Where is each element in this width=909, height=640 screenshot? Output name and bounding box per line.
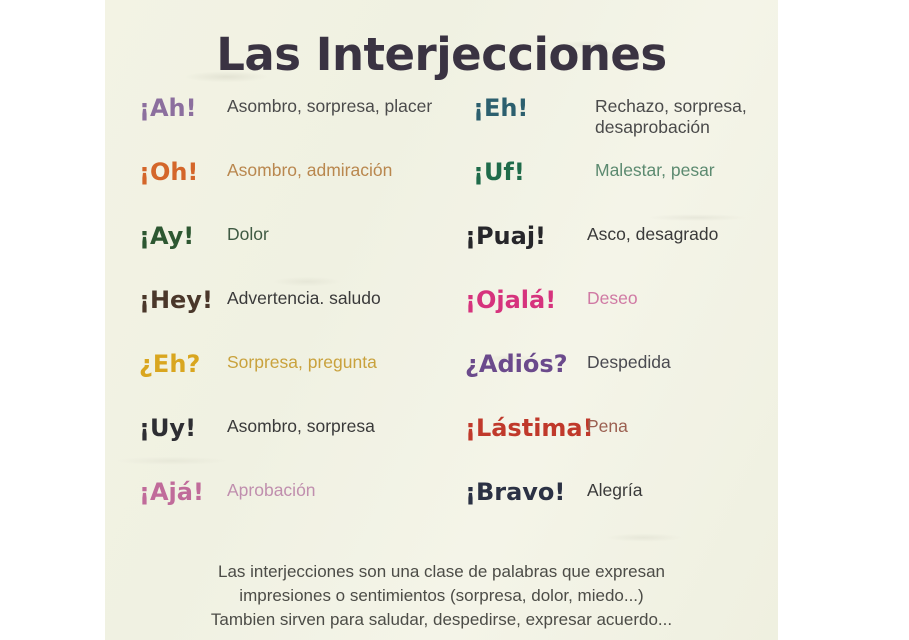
interjection-term: ¡Hey! (139, 288, 227, 314)
interjection-definition: Malestar, pesar (595, 160, 777, 181)
interjection-definition: Asombro, sorpresa (227, 416, 441, 437)
page-title: Las Interjecciones (105, 28, 778, 81)
list-item: ¡Ay! Dolor (139, 224, 441, 288)
interjection-term: ¡Ajá! (139, 480, 227, 506)
list-item: ¿Eh? Sorpresa, pregunta (139, 352, 441, 416)
interjection-definition: Dolor (227, 224, 441, 245)
footer-description: Las interjecciones son una clase de pala… (105, 560, 778, 632)
interjection-definition: Alegría (587, 480, 777, 501)
left-column: ¡Ah! Asombro, sorpresa, placer ¡Oh! Asom… (105, 96, 441, 544)
list-item: ¡Uf! Malestar, pesar (465, 160, 777, 224)
interjection-term: ¡Uf! (465, 160, 595, 186)
footer-line-2: impresiones o sentimientos (sorpresa, do… (105, 584, 778, 608)
interjection-definition: Deseo (587, 288, 777, 309)
interjection-term: ¡Ay! (139, 224, 227, 250)
right-column: ¡Eh! Rechazo, sorpresa, desaprobación ¡U… (441, 96, 777, 544)
interjection-term: ¡Oh! (139, 160, 227, 186)
list-item: ¡Ajá! Aprobación (139, 480, 441, 544)
list-item: ¡Ojalá! Deseo (465, 288, 777, 352)
interjection-term: ¡Ojalá! (465, 288, 587, 314)
poster-canvas: Las Interjecciones ¡Ah! Asombro, sorpres… (105, 0, 778, 640)
list-item: ¡Hey! Advertencia. saludo (139, 288, 441, 352)
interjection-definition: Despedida (587, 352, 777, 373)
interjection-definition: Asombro, admiración (227, 160, 441, 181)
list-item: ¡Puaj! Asco, desagrado (465, 224, 777, 288)
interjection-term: ¡Lástima! (465, 416, 587, 442)
footer-line-3: Tambien sirven para saludar, despedirse,… (105, 608, 778, 632)
interjection-term: ¡Puaj! (465, 224, 587, 250)
interjection-definition: Asombro, sorpresa, placer (227, 96, 441, 117)
interjection-definition: Pena (587, 416, 777, 437)
list-item: ¡Lástima! Pena (465, 416, 777, 480)
interjection-definition: Aprobación (227, 480, 441, 501)
interjection-term: ¿Eh? (139, 352, 227, 378)
interjection-term: ¡Ah! (139, 96, 227, 122)
footer-line-1: Las interjecciones son una clase de pala… (105, 560, 778, 584)
list-item: ¡Eh! Rechazo, sorpresa, desaprobación (465, 96, 777, 160)
list-item: ¡Oh! Asombro, admiración (139, 160, 441, 224)
list-item: ¡Bravo! Alegría (465, 480, 777, 544)
list-item: ¡Uy! Asombro, sorpresa (139, 416, 441, 480)
interjection-term: ¡Eh! (465, 96, 595, 122)
interjection-definition: Advertencia. saludo (227, 288, 441, 309)
interjection-definition: Sorpresa, pregunta (227, 352, 441, 373)
interjection-term: ¿Adiós? (465, 352, 587, 378)
interjection-term: ¡Bravo! (465, 480, 587, 506)
list-item: ¡Ah! Asombro, sorpresa, placer (139, 96, 441, 160)
interjection-definition: Asco, desagrado (587, 224, 777, 245)
list-item: ¿Adiós? Despedida (465, 352, 777, 416)
interjection-columns: ¡Ah! Asombro, sorpresa, placer ¡Oh! Asom… (105, 96, 778, 544)
interjection-term: ¡Uy! (139, 416, 227, 442)
interjection-definition: Rechazo, sorpresa, desaprobación (595, 96, 777, 139)
